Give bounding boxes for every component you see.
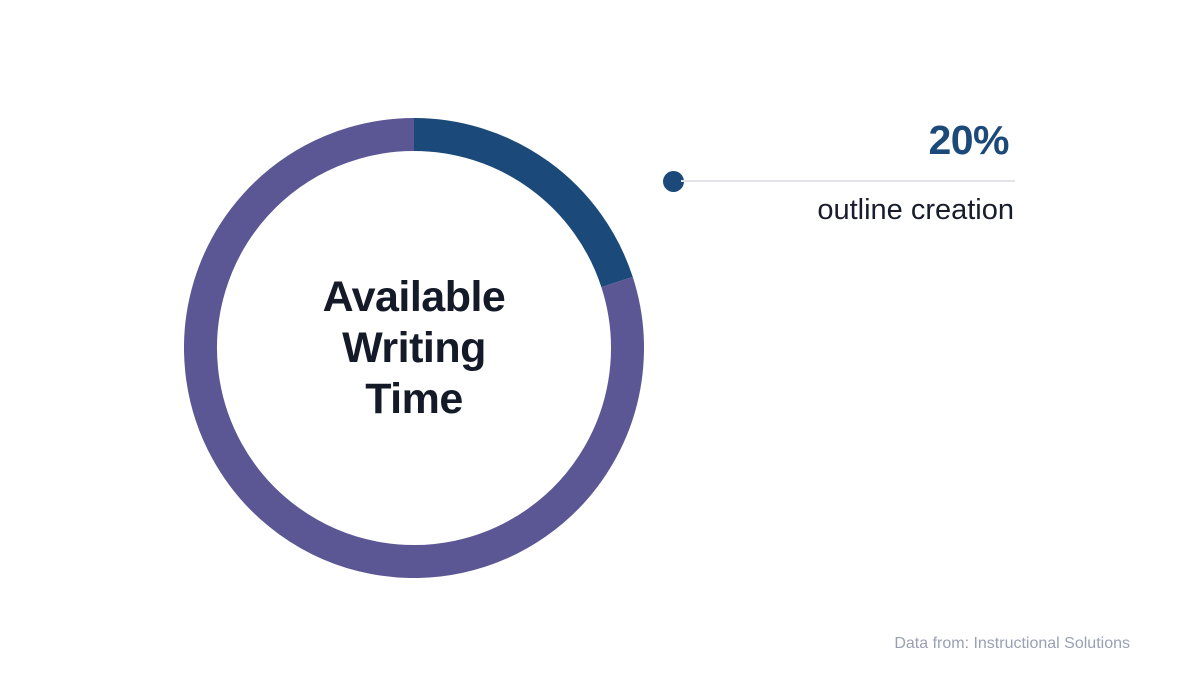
- callout-leader-line: [681, 180, 1015, 182]
- donut-slice-group: [201, 135, 628, 562]
- infographic-canvas: Available Writing Time 20% outline creat…: [0, 0, 1200, 700]
- slice-callout: 20% outline creation: [663, 112, 1023, 242]
- source-attribution: Data from: Instructional Solutions: [894, 634, 1130, 654]
- donut-chart: Available Writing Time: [184, 118, 644, 578]
- donut-chart-svg: [184, 118, 644, 578]
- donut-slice: [414, 135, 617, 283]
- callout-percent-value: 20%: [663, 112, 1009, 168]
- callout-category-label: outline creation: [663, 192, 1014, 228]
